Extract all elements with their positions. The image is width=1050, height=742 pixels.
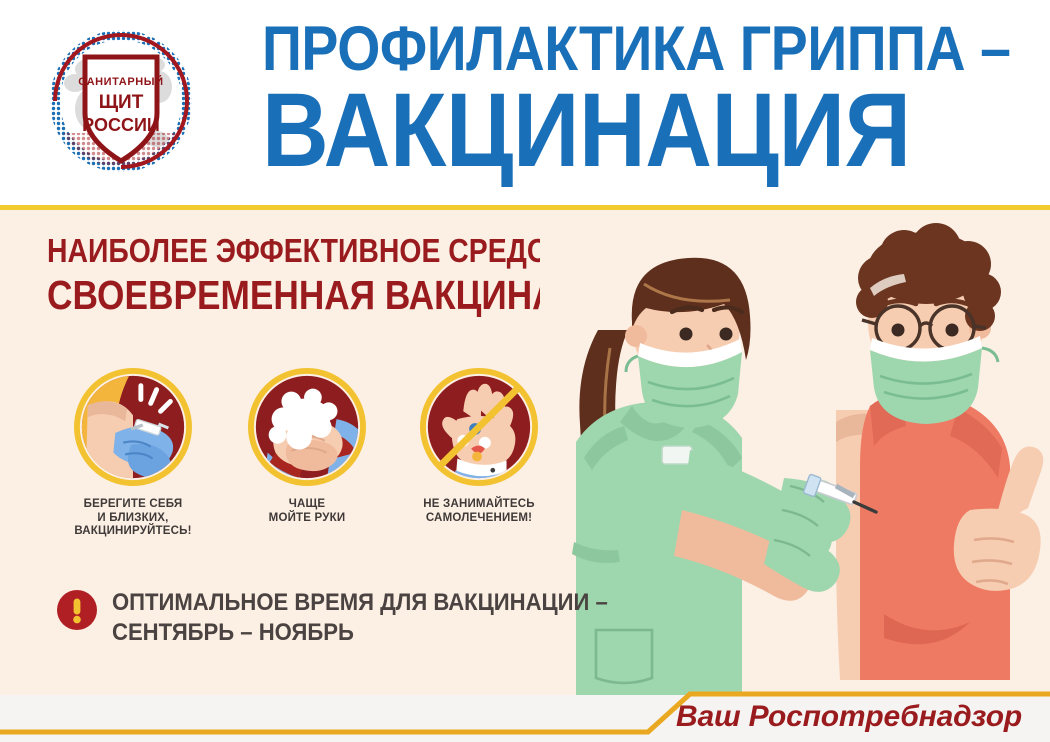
poster-root: САНИТАРНЫЙ ЩИТ РОССИИ ПРОФИЛАКТИКА ГРИПП… — [0, 0, 1050, 742]
caption-line: ЧАЩЕ — [227, 498, 387, 512]
caption-line: БЕРЕГИТЕ СЕБЯ — [53, 498, 213, 512]
callout-line-2: СЕНТЯБРЬ – НОЯБРЬ — [112, 618, 608, 648]
caption-line: И БЛИЗКИХ, — [53, 512, 213, 526]
title-line-2: ВАКЦИНАЦИЯ — [262, 78, 948, 183]
callout-line-1: ОПТИМАЛЬНОЕ ВРЕМЯ ДЛЯ ВАКЦИНАЦИИ – — [112, 588, 608, 618]
page-title: ПРОФИЛАКТИКА ГРИППА – ВАКЦИНАЦИЯ — [262, 16, 1042, 183]
sanitary-shield-logo: САНИТАРНЫЙ ЩИТ РОССИИ — [41, 21, 201, 181]
caption-line: САМОЛЕЧЕНИЕМ! — [399, 512, 559, 526]
logo-line-2: ЩИТ — [99, 92, 144, 113]
name-badge — [662, 446, 692, 464]
no-self-medication-prohibited-icon — [420, 368, 538, 486]
caption-line: МОЙТЕ РУКИ — [227, 512, 387, 526]
shield-emblem-icon: САНИТАРНЫЙ ЩИТ РОССИИ — [41, 21, 201, 181]
optimal-time-callout: ОПТИМАЛЬНОЕ ВРЕМЯ ДЛЯ ВАКЦИНАЦИИ – СЕНТЯ… — [57, 588, 651, 648]
hand-washing-soap-icon — [248, 368, 366, 486]
icon-caption: НЕ ЗАНИМАЙТЕСЬ САМОЛЕЧЕНИЕМ! — [399, 498, 559, 525]
icon-card-wash-hands: ЧАЩЕ МОЙТЕ РУКИ — [227, 368, 387, 525]
icon-card-vaccinate: БЕРЕГИТЕ СЕБЯ И БЛИЗКИХ, ВАКЦИНИРУЙТЕСЬ! — [53, 368, 213, 539]
vaccination-arm-syringe-icon — [74, 368, 192, 486]
footer-signature: Ваш Роспотребнадзор — [676, 700, 1022, 734]
poster-header: САНИТАРНЫЙ ЩИТ РОССИИ ПРОФИЛАКТИКА ГРИПП… — [0, 0, 1050, 206]
caption-line: НЕ ЗАНИМАЙТЕСЬ — [399, 498, 559, 512]
icon-caption: БЕРЕГИТЕ СЕБЯ И БЛИЗКИХ, ВАКЦИНИРУЙТЕСЬ! — [53, 498, 213, 539]
logo-line-3: РОССИИ — [82, 115, 160, 135]
callout-text: ОПТИМАЛЬНОЕ ВРЕМЯ ДЛЯ ВАКЦИНАЦИИ – СЕНТЯ… — [112, 588, 608, 648]
logo-line-1: САНИТАРНЫЙ — [78, 75, 163, 88]
prevention-icons-group: БЕРЕГИТЕ СЕБЯ И БЛИЗКИХ, ВАКЦИНИРУЙТЕСЬ! — [47, 368, 577, 543]
icon-caption: ЧАЩЕ МОЙТЕ РУКИ — [227, 498, 387, 525]
icon-card-no-self-medication: НЕ ЗАНИМАЙТЕСЬ САМОЛЕЧЕНИЕМ! — [399, 368, 559, 525]
caption-line: ВАКЦИНИРУЙТЕСЬ! — [53, 525, 213, 539]
exclamation-mark-icon — [57, 590, 97, 630]
